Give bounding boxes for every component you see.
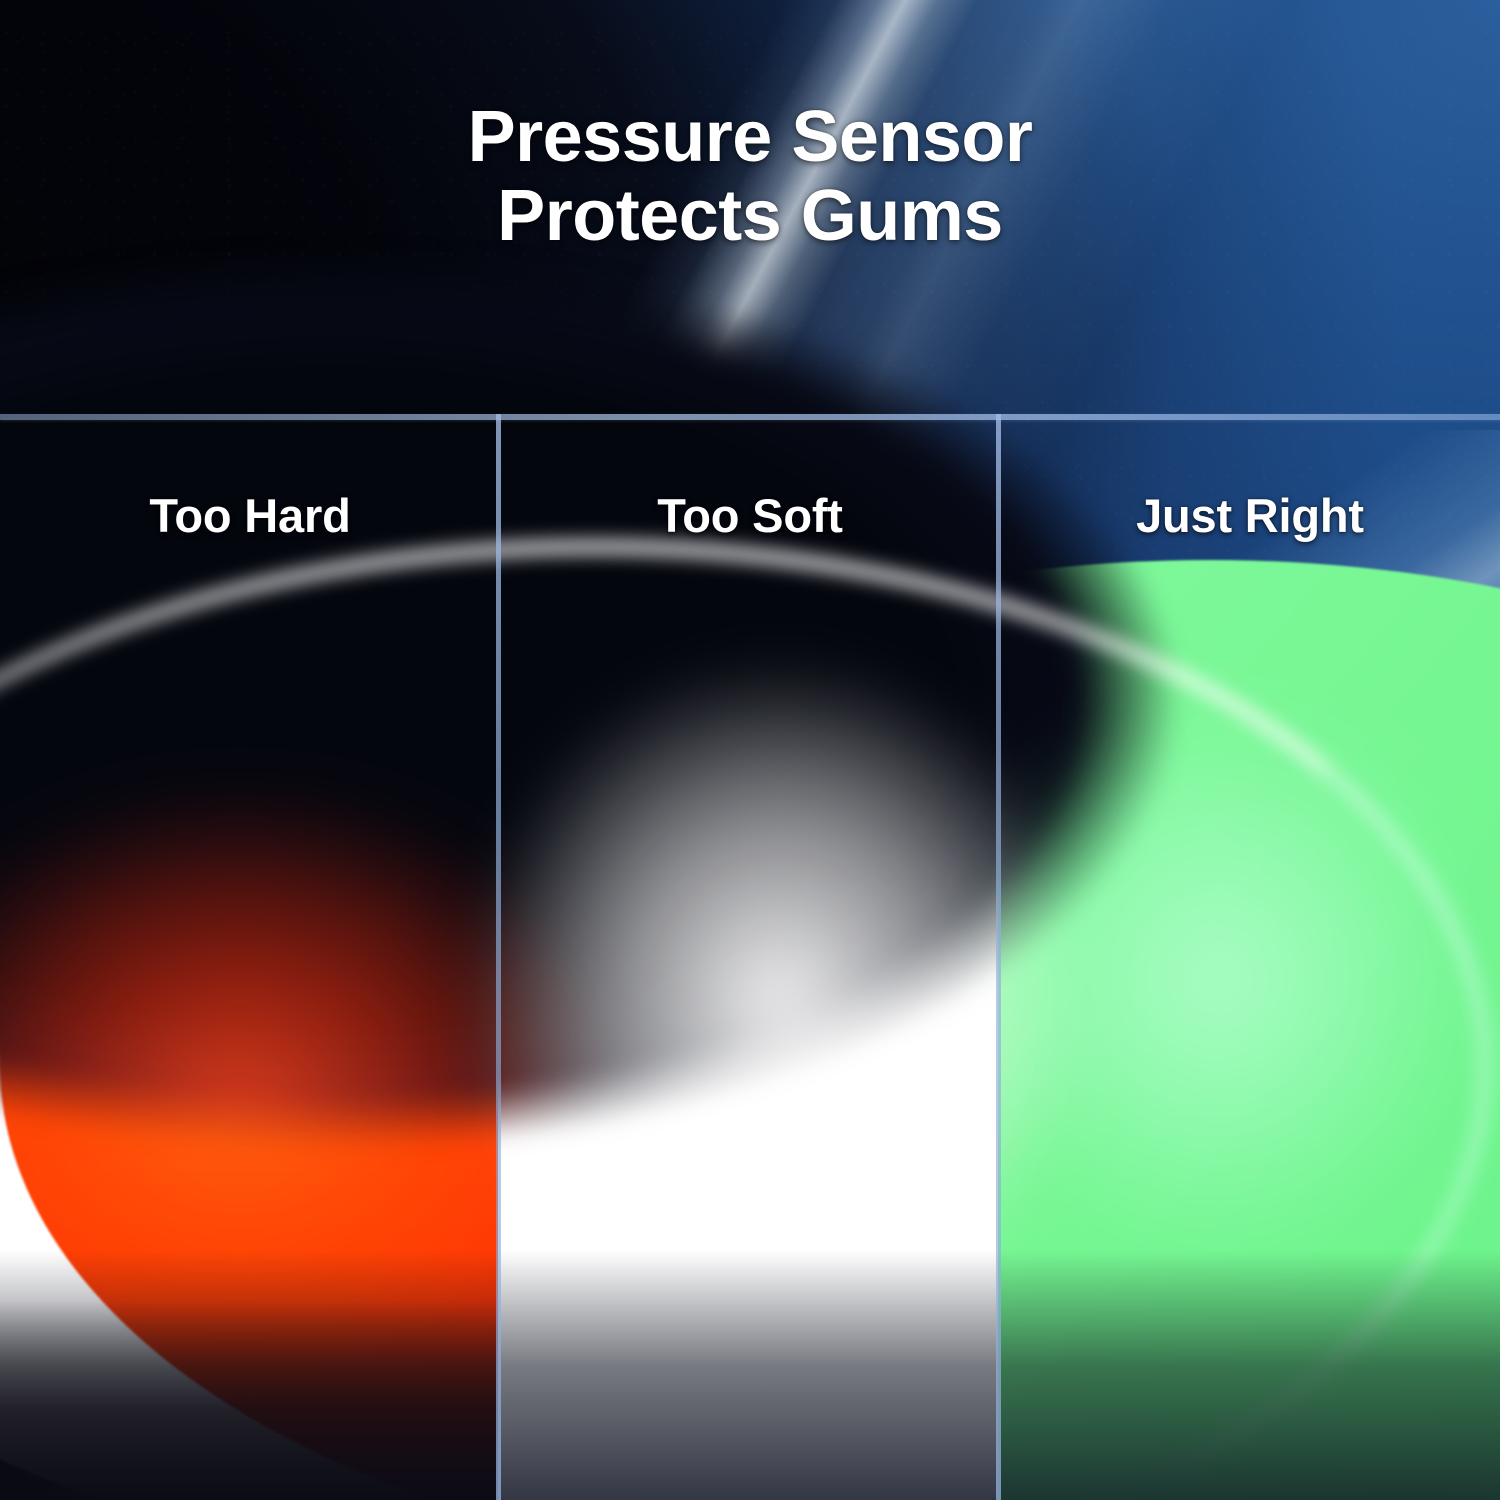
blue-light-ray-icon bbox=[270, 430, 1500, 1500]
panel-too-hard: Too Hard bbox=[0, 472, 500, 558]
title-line-1: Pressure Sensor bbox=[0, 98, 1500, 177]
green-glow-fill bbox=[998, 560, 1500, 1500]
panel-label-too-soft: Too Soft bbox=[657, 488, 842, 543]
panel-label-row: Too Hard Too Soft Just Right bbox=[0, 472, 1500, 558]
panel-label-too-hard: Too Hard bbox=[149, 488, 350, 543]
panel-too-soft: Too Soft bbox=[500, 472, 1000, 558]
brush-handle-body bbox=[0, 250, 1180, 1150]
panel-label-just-right: Just Right bbox=[1136, 488, 1364, 543]
title-line-2: Protects Gums bbox=[0, 177, 1500, 256]
page-title: Pressure Sensor Protects Gums bbox=[0, 98, 1500, 256]
product-feature-image: Pressure Sensor Protects Gums Too Hard T… bbox=[0, 0, 1500, 1500]
divider-vertical-right bbox=[996, 414, 1001, 1500]
ring-rim-highlight bbox=[0, 540, 1490, 1500]
ring-bottom-shadow bbox=[0, 1250, 1500, 1500]
sensor-ring-base bbox=[0, 560, 1430, 1500]
red-bottom-shadow bbox=[0, 1300, 498, 1500]
panel-just-right: Just Right bbox=[1000, 472, 1500, 558]
divider-vertical-left bbox=[496, 414, 501, 1500]
divider-horizontal bbox=[0, 414, 1500, 420]
red-bleed-glow bbox=[0, 790, 620, 1410]
red-glow-fill bbox=[0, 560, 498, 1500]
green-bleed-glow bbox=[960, 700, 1480, 1260]
